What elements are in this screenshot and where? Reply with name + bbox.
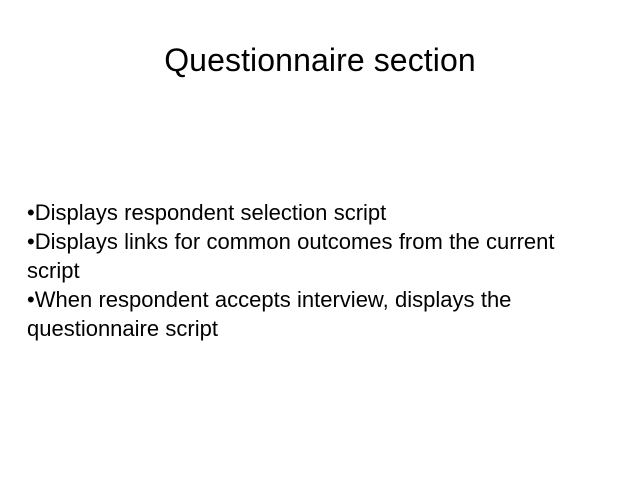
bullet-point-icon: • [27,287,35,312]
list-item: •When respondent accepts interview, disp… [27,285,613,343]
list-item-label: Displays respondent selection script [35,200,387,225]
slide-body: •Displays respondent selection script •D… [27,198,613,343]
bullet-list: •Displays respondent selection script •D… [27,198,613,343]
list-item-label: When respondent accepts interview, displ… [27,287,511,341]
bullet-point-icon: • [27,229,35,254]
bullet-point-icon: • [27,200,35,225]
list-item-label: Displays links for common outcomes from … [27,229,555,283]
page-title: Questionnaire section [0,40,640,80]
list-item: •Displays links for common outcomes from… [27,227,613,285]
list-item: •Displays respondent selection script [27,198,613,227]
slide: Questionnaire section •Displays responde… [0,0,640,480]
